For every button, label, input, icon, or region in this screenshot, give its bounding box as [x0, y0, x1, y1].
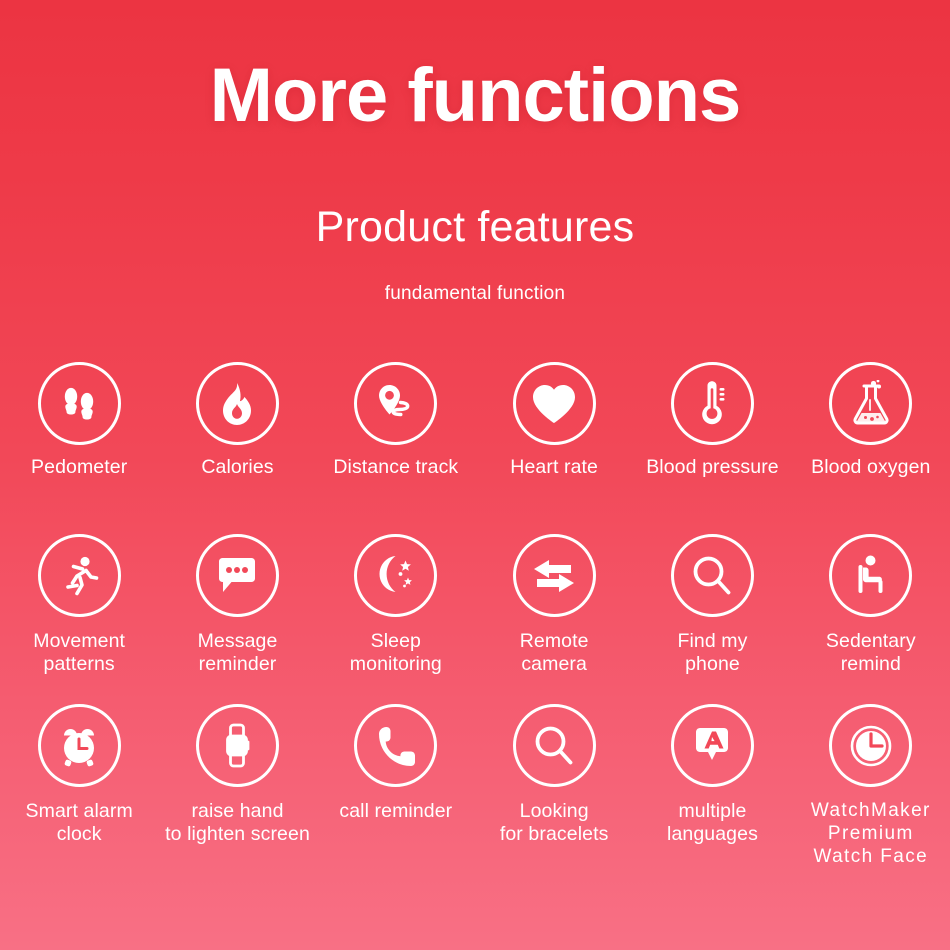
magnifier-icon — [513, 704, 596, 787]
feature-label: Blood oxygen — [811, 457, 930, 479]
feature-item-sleep-monitoring[interactable]: Sleep monitoring — [317, 534, 475, 704]
feature-label: Smart alarm clock — [26, 800, 133, 847]
feature-label: WatchMaker Premium Watch Face — [811, 800, 931, 868]
footprints-icon — [38, 362, 121, 445]
feature-label: Distance track — [333, 457, 458, 479]
feature-item-blood-oxygen[interactable]: Blood oxygen — [792, 362, 950, 534]
feature-item-find-my-phone[interactable]: Find my phone — [633, 534, 791, 704]
running-person-icon — [38, 534, 121, 617]
feature-item-heart-rate[interactable]: Heart rate — [475, 362, 633, 534]
flask-icon — [829, 362, 912, 445]
feature-item-distance-track[interactable]: Distance track — [317, 362, 475, 534]
heart-icon — [513, 362, 596, 445]
feature-label: Message reminder — [198, 630, 278, 677]
feature-label: call reminder — [339, 800, 452, 823]
feature-item-message-reminder[interactable]: Message reminder — [158, 534, 316, 704]
feature-label: Find my phone — [677, 630, 747, 677]
feature-label: Blood pressure — [646, 457, 779, 479]
magnifier-icon — [671, 534, 754, 617]
feature-item-watchmaker-premium[interactable]: WatchMaker Premium Watch Face — [792, 704, 950, 868]
feature-item-movement-patterns[interactable]: Movement patterns — [0, 534, 158, 704]
clock-face-icon — [829, 704, 912, 787]
feature-label: Looking for bracelets — [500, 800, 609, 847]
page-subtitle: Product features — [0, 134, 950, 249]
feature-label: Movement patterns — [33, 630, 125, 677]
feature-label: Heart rate — [510, 457, 598, 479]
feature-item-sedentary-remind[interactable]: Sedentary remind — [792, 534, 950, 704]
flame-icon — [196, 362, 279, 445]
page-title: More functions — [0, 0, 950, 134]
moon-stars-icon — [354, 534, 437, 617]
feature-label: raise hand to lighten screen — [165, 800, 310, 847]
feature-item-multiple-languages[interactable]: multiple languages — [633, 704, 791, 868]
feature-label: Pedometer — [31, 457, 127, 479]
feature-item-calories[interactable]: Calories — [158, 362, 316, 534]
seated-person-icon — [829, 534, 912, 617]
feature-item-blood-pressure[interactable]: Blood pressure — [633, 362, 791, 534]
thermometer-icon — [671, 362, 754, 445]
feature-item-call-reminder[interactable]: call reminder — [317, 704, 475, 868]
feature-label: multiple languages — [667, 800, 758, 847]
feature-label: Sleep monitoring — [350, 630, 442, 677]
feature-item-looking-for-bracelets[interactable]: Looking for bracelets — [475, 704, 633, 868]
feature-grid: Pedometer Calories Distance track — [0, 362, 950, 868]
feature-row: Smart alarm clock raise hand to lighten … — [0, 704, 950, 868]
language-a-icon — [671, 704, 754, 787]
map-pin-route-icon — [354, 362, 437, 445]
feature-row: Pedometer Calories Distance track — [0, 362, 950, 534]
page-caption: fundamental function — [0, 249, 950, 303]
phone-handset-icon — [354, 704, 437, 787]
feature-item-raise-hand[interactable]: raise hand to lighten screen — [158, 704, 316, 868]
two-way-arrows-icon — [513, 534, 596, 617]
feature-row: Movement patterns Message reminder — [0, 534, 950, 704]
feature-item-pedometer[interactable]: Pedometer — [0, 362, 158, 534]
feature-label: Remote camera — [520, 630, 589, 677]
chat-bubble-icon — [196, 534, 279, 617]
smartwatch-icon — [196, 704, 279, 787]
feature-label: Calories — [201, 457, 273, 479]
feature-item-smart-alarm-clock[interactable]: Smart alarm clock — [0, 704, 158, 868]
hero-section: More functions Product features fundamen… — [0, 0, 950, 303]
alarm-clock-icon — [38, 704, 121, 787]
feature-label: Sedentary remind — [826, 630, 916, 677]
feature-item-remote-camera[interactable]: Remote camera — [475, 534, 633, 704]
